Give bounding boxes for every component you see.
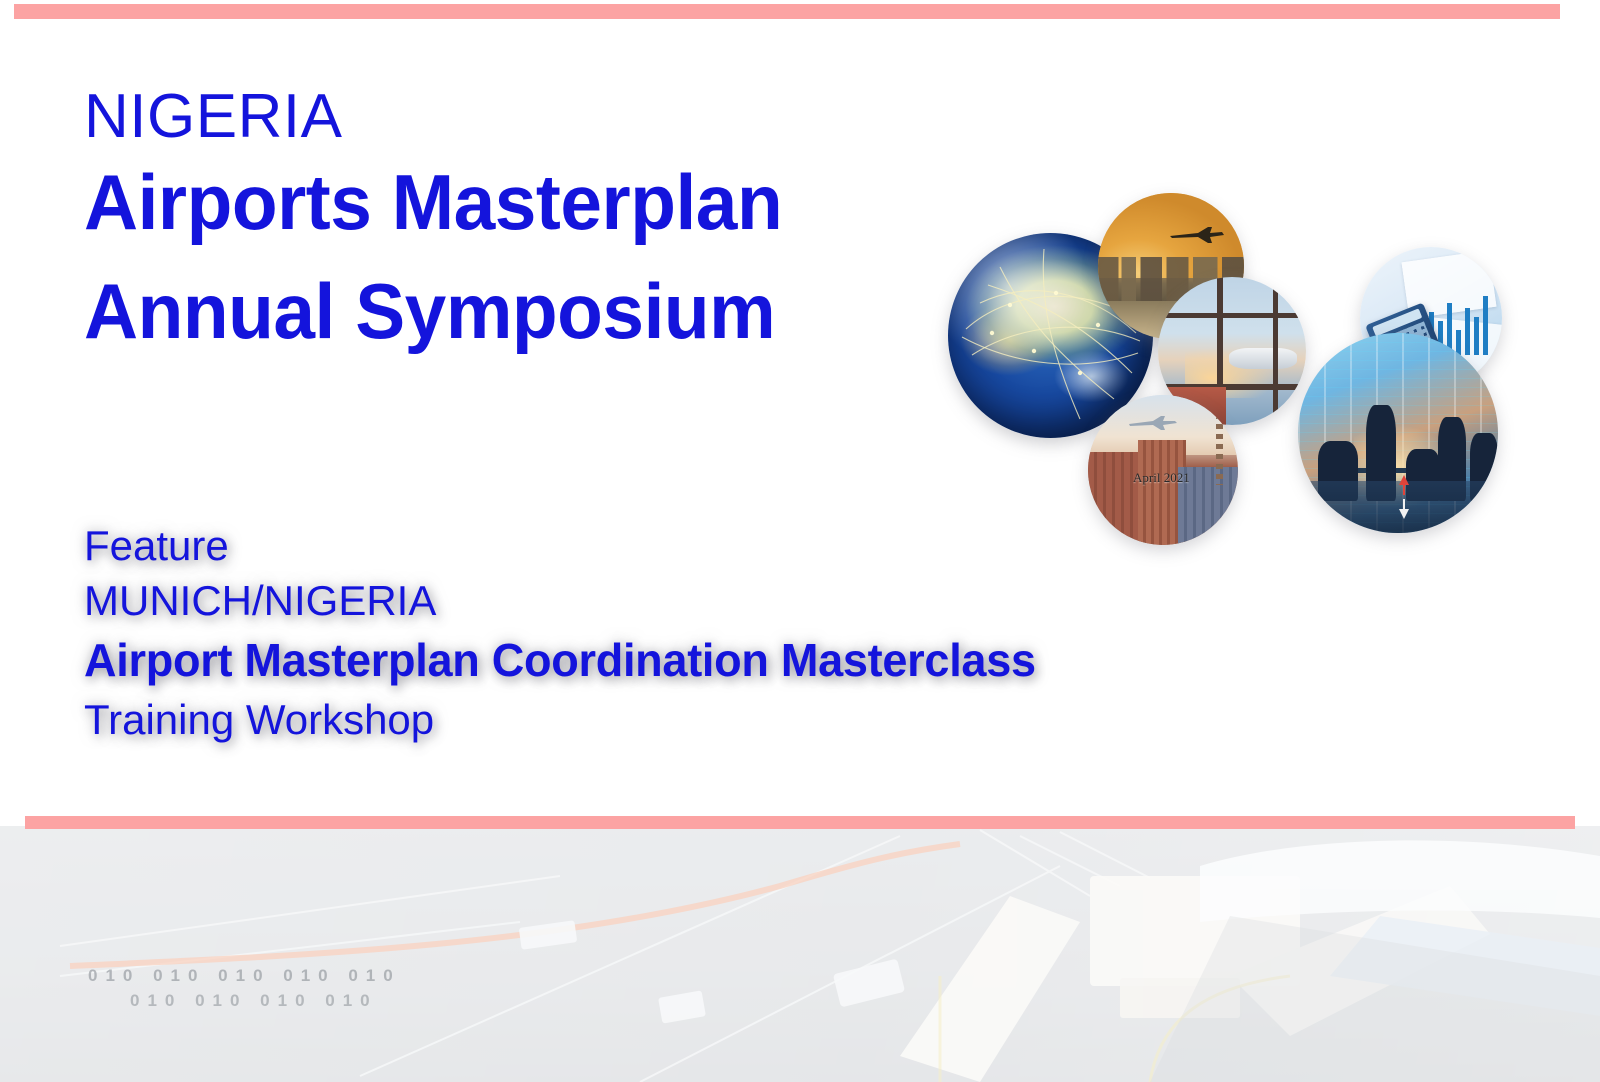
headline-block: NIGERIA Airports Masterplan Annual Sympo… [84, 86, 984, 366]
title-line-2: Annual Symposium [84, 257, 948, 366]
business-meeting-icon [1298, 333, 1498, 533]
top-accent-bar [14, 4, 1560, 19]
window-mullion-h1 [1158, 313, 1306, 318]
feature-location: MUNICH/NIGERIA [84, 573, 1284, 628]
cargo-containers-icon: April 2021 [1088, 395, 1238, 545]
collage-date-caption: April 2021 [1133, 470, 1190, 486]
circle-collage: April 2021 [930, 185, 1550, 555]
crane-ladder [1216, 404, 1223, 485]
up-down-arrows-icon [1396, 473, 1412, 521]
title-line-1: Airports Masterplan [84, 148, 948, 257]
cargo-airplane-icon [1127, 415, 1179, 431]
taxi-marking-line-1: 010 010 010 010 010 [88, 966, 401, 986]
slide-canvas: NIGERIA Airports Masterplan Annual Sympo… [0, 0, 1600, 1082]
feature-event-subtitle: Training Workshop [84, 692, 1284, 747]
airport-apron-photo: 010 010 010 010 010 010 010 010 010 [0, 826, 1600, 1082]
window-mullion-v2 [1273, 277, 1278, 425]
photo-white-overlay [0, 826, 1600, 1082]
kicker-country: NIGERIA [84, 86, 984, 148]
bottom-accent-bar [25, 816, 1575, 829]
feature-event-title: Airport Masterplan Coordination Mastercl… [84, 629, 1260, 692]
airplane-silhouette-icon [1168, 225, 1226, 245]
parked-aircraft [1229, 348, 1297, 369]
taxi-marking-line-2: 010 010 010 010 [130, 991, 378, 1011]
container-red-left [1088, 452, 1142, 545]
